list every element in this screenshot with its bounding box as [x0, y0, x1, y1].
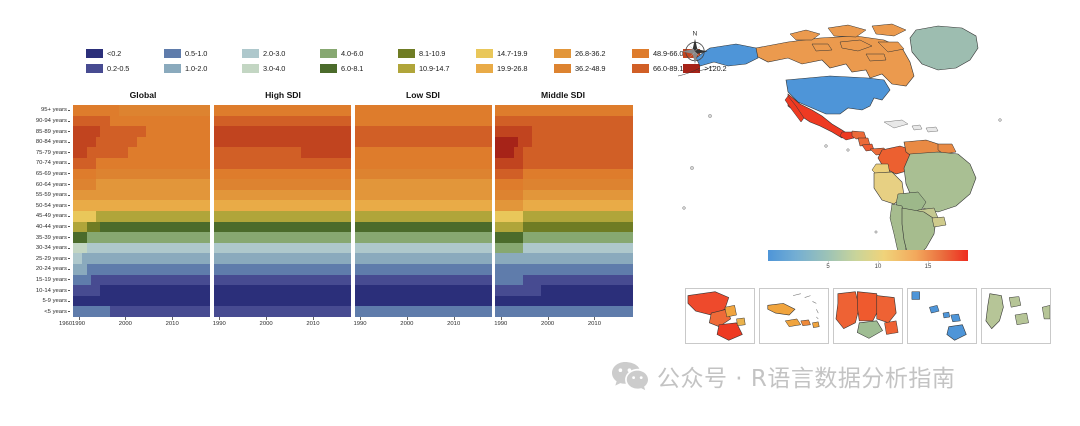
inset-panel-caribbean — [759, 288, 829, 344]
heatmap-cell — [628, 296, 633, 307]
heatmap-row — [214, 147, 352, 158]
facet-middle-sdi — [495, 105, 633, 317]
heatmap-cell — [206, 169, 211, 180]
heatmap-cell — [206, 264, 211, 275]
legend-label: 1.0-2.0 — [185, 64, 207, 73]
legend-swatch — [242, 49, 259, 58]
legend-item-11: 19.9-26.8 — [476, 61, 554, 76]
heatmap-row — [355, 147, 493, 158]
year-tick-label: 2000 — [400, 321, 413, 327]
legend-item-3: 1.0-2.0 — [164, 61, 242, 76]
heatmap-row — [73, 190, 211, 201]
colorbar-tick-label: 10 — [875, 264, 882, 270]
map-colorbar: 51015 — [768, 250, 978, 280]
heatmap-row — [214, 296, 352, 307]
year-tick-label: 1990 — [353, 321, 366, 327]
heatmap-row — [73, 116, 211, 127]
heatmap-cell — [487, 211, 492, 222]
heatmap-cell — [628, 158, 633, 169]
heatmap-row — [355, 126, 493, 137]
year-tick-mark — [548, 317, 549, 320]
heatmap-cell — [347, 232, 352, 243]
age-tick-1: 5-9 years — [8, 296, 70, 307]
age-tick-11: 55-59 years — [8, 190, 70, 201]
heatmap-cell — [347, 105, 352, 116]
heatmap-cell — [206, 179, 211, 190]
inset-panel-pacific-islands — [907, 288, 977, 344]
country-uruguay — [932, 217, 946, 227]
heatmap-cell — [347, 243, 352, 254]
heatmap-row — [73, 222, 211, 233]
caribbean-islands — [884, 120, 938, 132]
heatmap-row — [214, 190, 352, 201]
heatmap-row — [355, 200, 493, 211]
heatmap-cell — [347, 285, 352, 296]
heatmap-row — [355, 296, 493, 307]
age-tick-17: 85-89 years — [8, 126, 70, 137]
legend-item-8: 8.1-10.9 — [398, 46, 476, 61]
heatmap-row — [73, 126, 211, 137]
heatmap-cell — [487, 232, 492, 243]
wechat-logo-icon — [612, 361, 648, 391]
heatmap-row — [73, 179, 211, 190]
colorbar-tick-label: 15 — [925, 264, 932, 270]
year-tick-origin: 1960 — [59, 321, 72, 327]
heatmap-figure: <0.20.2-0.50.5-1.01.0-2.02.0-3.03.0-4.04… — [0, 0, 660, 426]
heatmap-cell — [206, 147, 211, 158]
heatmap-cell — [347, 158, 352, 169]
age-tick-0: <5 years — [8, 306, 70, 317]
year-tick-label: 1990 — [494, 321, 507, 327]
age-tick-10: 50-54 years — [8, 200, 70, 211]
legend-swatch — [86, 64, 103, 73]
heatmap-cell — [628, 275, 633, 286]
legend-item-0: <0.2 — [86, 46, 164, 61]
heatmap-cell — [628, 264, 633, 275]
legend-label: 6.0-8.1 — [341, 64, 363, 73]
year-tick-mark — [266, 317, 267, 320]
heatmap-row — [355, 243, 493, 254]
legend-item-4: 2.0-3.0 — [242, 46, 320, 61]
age-tick-14: 70-74 years — [8, 158, 70, 169]
heatmap-cell — [628, 126, 633, 137]
inset-panel-west-africa — [833, 288, 903, 344]
legend-label: 3.0-4.0 — [263, 64, 285, 73]
heatmap-cell — [628, 147, 633, 158]
legend-item-1: 0.2-0.5 — [86, 61, 164, 76]
heatmap-cell — [487, 137, 492, 148]
heatmap-cell — [347, 211, 352, 222]
heatmap-row — [73, 158, 211, 169]
heatmap-row — [355, 222, 493, 233]
heatmap-cell — [487, 222, 492, 233]
facet-titles: GlobalHigh SDILow SDIMiddle SDI — [73, 90, 633, 103]
heatmap-cell — [487, 169, 492, 180]
age-tick-19: 95+ years — [8, 105, 70, 116]
legend-item-13: 36.2-48.9 — [554, 61, 632, 76]
heatmap-cell — [347, 200, 352, 211]
heatmap-row — [73, 200, 211, 211]
heatmap-row — [355, 232, 493, 243]
inset-panel-indian-ocean — [981, 288, 1051, 344]
facet-title-middle-sdi: Middle SDI — [493, 90, 633, 103]
year-tick-mark — [407, 317, 408, 320]
heatmap-row — [495, 179, 633, 190]
heatmap-row — [214, 179, 352, 190]
legend-swatch — [554, 64, 571, 73]
age-tick-9: 45-49 years — [8, 211, 70, 222]
heatmap-cell — [487, 147, 492, 158]
age-tick-18: 90-94 years — [8, 116, 70, 127]
heatmap-row — [355, 137, 493, 148]
heatmap-cell — [347, 190, 352, 201]
heatmap-row — [495, 126, 633, 137]
watermark-text: 公众号 · R语言数据分析指南 — [657, 359, 955, 393]
year-tick-mark — [454, 317, 455, 320]
heatmap-row — [495, 211, 633, 222]
heatmap-row — [214, 306, 352, 317]
year-axis-low-sdi: 199020002010 — [355, 317, 493, 333]
heatmap-cell — [487, 105, 492, 116]
heatmap-cell — [347, 116, 352, 127]
legend-label: 10.9-14.7 — [419, 64, 449, 73]
heatmap-row — [73, 275, 211, 286]
age-tick-15: 75-79 years — [8, 148, 70, 159]
heatmap-cell — [206, 190, 211, 201]
heatmap-cell — [628, 137, 633, 148]
year-tick-mark — [219, 317, 220, 320]
legend-swatch — [554, 49, 571, 58]
age-tick-8: 40-44 years — [8, 222, 70, 233]
heatmap-cell — [206, 243, 211, 254]
legend-item-10: 14.7-19.9 — [476, 46, 554, 61]
legend-swatch — [86, 49, 103, 58]
inset-panel-central-america — [685, 288, 755, 344]
americas-map — [670, 18, 1070, 268]
heatmap-row — [73, 264, 211, 275]
heatmap-cell — [347, 264, 352, 275]
heatmap-row — [214, 285, 352, 296]
age-tick-5: 25-29 years — [8, 253, 70, 264]
heatmap-row — [73, 296, 211, 307]
heatmap-cell — [347, 147, 352, 158]
legend-swatch — [398, 64, 415, 73]
legend-item-7: 6.0-8.1 — [320, 61, 398, 76]
heatmap-row — [214, 243, 352, 254]
heatmap-row — [495, 296, 633, 307]
year-tick-label: 2010 — [588, 321, 601, 327]
legend-item-9: 10.9-14.7 — [398, 61, 476, 76]
legend-item-12: 26.8-36.2 — [554, 46, 632, 61]
heatmap-row — [214, 200, 352, 211]
heatmap-cell — [347, 306, 352, 317]
legend-swatch — [164, 49, 181, 58]
age-tick-16: 80-84 years — [8, 137, 70, 148]
heatmap-cell — [206, 211, 211, 222]
heatmap-row — [73, 306, 211, 317]
heatmap-row — [214, 137, 352, 148]
year-tick-mark — [594, 317, 595, 320]
facet-high-sdi — [214, 105, 352, 317]
heatmap-row — [214, 253, 352, 264]
heatmap-cell — [206, 116, 211, 127]
heatmap-cell — [206, 296, 211, 307]
legend-swatch — [476, 49, 493, 58]
legend-label: 4.0-6.0 — [341, 49, 363, 58]
heatmap-row — [495, 243, 633, 254]
heatmap-cell — [487, 243, 492, 254]
heatmap-cell — [487, 264, 492, 275]
heatmap-row — [355, 116, 493, 127]
heatmap-row — [214, 275, 352, 286]
heatmap-row — [495, 253, 633, 264]
legend-swatch — [320, 49, 337, 58]
discrete-rate-legend: <0.20.2-0.50.5-1.01.0-2.02.0-3.03.0-4.04… — [86, 46, 632, 78]
heatmap-row — [355, 179, 493, 190]
year-tick-mark — [313, 317, 314, 320]
svg-text:N: N — [693, 31, 698, 38]
age-tick-7: 35-39 years — [8, 232, 70, 243]
year-tick-label: 2010 — [166, 321, 179, 327]
heatmap-cell — [487, 158, 492, 169]
figure-root: <0.20.2-0.50.5-1.01.0-2.02.0-3.03.0-4.04… — [0, 0, 1080, 426]
heatmap-row — [495, 232, 633, 243]
heatmap-cell — [347, 137, 352, 148]
heatmap-row — [214, 211, 352, 222]
heatmap-row — [495, 275, 633, 286]
facet-global — [73, 105, 211, 317]
year-axis-global: 1960199020002010 — [73, 317, 211, 333]
colorbar-gradient — [768, 250, 968, 261]
year-tick-mark — [125, 317, 126, 320]
wechat-watermark: 公众号 · R语言数据分析指南 — [612, 352, 1032, 400]
map-inset-panels — [685, 288, 1057, 344]
heatmap-row — [355, 169, 493, 180]
heatmap-cell — [487, 285, 492, 296]
year-axis: 1960199020002010199020002010199020002010… — [73, 317, 633, 333]
year-tick-label: 1990 — [213, 321, 226, 327]
heatmap-row — [355, 158, 493, 169]
heatmap-row — [73, 169, 211, 180]
legend-item-2: 0.5-1.0 — [164, 46, 242, 61]
heatmap-row — [214, 116, 352, 127]
heatmap-cell — [628, 211, 633, 222]
age-tick-12: 60-64 years — [8, 179, 70, 190]
heatmap-row — [73, 137, 211, 148]
country-greenland — [910, 26, 978, 70]
heatmap-cell — [628, 285, 633, 296]
heatmap-row — [73, 253, 211, 264]
heatmap-plot-area — [73, 105, 633, 317]
heatmap-row — [495, 147, 633, 158]
heatmap-row — [495, 190, 633, 201]
legend-label: <0.2 — [107, 49, 121, 58]
heatmap-cell — [206, 137, 211, 148]
age-tick-3: 15-19 years — [8, 275, 70, 286]
heatmap-cell — [206, 200, 211, 211]
heatmap-cell — [628, 190, 633, 201]
year-tick-label: 2000 — [119, 321, 132, 327]
heatmap-cell — [347, 222, 352, 233]
facet-title-low-sdi: Low SDI — [353, 90, 493, 103]
facet-low-sdi — [355, 105, 493, 317]
legend-swatch — [398, 49, 415, 58]
heatmap-cell — [347, 275, 352, 286]
heatmap-row — [495, 306, 633, 317]
heatmap-row — [495, 200, 633, 211]
heatmap-cell — [487, 306, 492, 317]
heatmap-row — [355, 285, 493, 296]
heatmap-cell — [487, 126, 492, 137]
legend-label: 14.7-19.9 — [497, 49, 527, 58]
heatmap-cell — [628, 200, 633, 211]
heatmap-cell — [487, 253, 492, 264]
year-tick-mark — [79, 317, 80, 320]
year-axis-middle-sdi: 199020002010 — [495, 317, 633, 333]
heatmap-cell — [628, 116, 633, 127]
legend-item-5: 3.0-4.0 — [242, 61, 320, 76]
heatmap-cell — [628, 253, 633, 264]
heatmap-cell — [487, 179, 492, 190]
facet-title-global: Global — [73, 90, 213, 103]
heatmap-row — [214, 158, 352, 169]
legend-swatch — [320, 64, 337, 73]
heatmap-cell — [628, 179, 633, 190]
heatmap-row — [495, 169, 633, 180]
heatmap-cell — [347, 126, 352, 137]
heatmap-row — [73, 105, 211, 116]
heatmap-row — [214, 105, 352, 116]
heatmap-row — [495, 105, 633, 116]
colorbar-tick-label: 5 — [826, 264, 829, 270]
heatmap-row — [214, 264, 352, 275]
heatmap-cell — [487, 275, 492, 286]
legend-label: 0.2-0.5 — [107, 64, 129, 73]
facet-title-high-sdi: High SDI — [213, 90, 353, 103]
heatmap-cell — [206, 126, 211, 137]
legend-label: 26.8-36.2 — [575, 49, 605, 58]
age-tick-6: 30-34 years — [8, 243, 70, 254]
heatmap-cell — [206, 275, 211, 286]
heatmap-row — [73, 211, 211, 222]
heatmap-cell — [487, 200, 492, 211]
legend-label: 36.2-48.9 — [575, 64, 605, 73]
heatmap-row — [495, 158, 633, 169]
heatmap-row — [355, 275, 493, 286]
heatmap-cell — [628, 243, 633, 254]
year-tick-mark — [501, 317, 502, 320]
heatmap-cell — [487, 296, 492, 307]
heatmap-cell — [487, 116, 492, 127]
legend-label: 8.1-10.9 — [419, 49, 445, 58]
year-tick-label: 2010 — [306, 321, 319, 327]
legend-label: 2.0-3.0 — [263, 49, 285, 58]
heatmap-cell — [628, 232, 633, 243]
heatmap-row — [355, 190, 493, 201]
heatmap-row — [214, 222, 352, 233]
heatmap-row — [214, 169, 352, 180]
legend-swatch — [632, 64, 649, 73]
heatmap-cell — [206, 232, 211, 243]
year-tick-label: 1990 — [72, 321, 85, 327]
heatmap-cell — [206, 285, 211, 296]
legend-swatch — [242, 64, 259, 73]
year-tick-label: 2000 — [260, 321, 273, 327]
heatmap-row — [495, 285, 633, 296]
age-tick-4: 20-24 years — [8, 264, 70, 275]
heatmap-cell — [206, 253, 211, 264]
legend-swatch — [632, 49, 649, 58]
year-tick-label: 2000 — [541, 321, 554, 327]
heatmap-cell — [347, 169, 352, 180]
heatmap-row — [73, 285, 211, 296]
heatmap-row — [214, 232, 352, 243]
heatmap-row — [495, 264, 633, 275]
legend-label: 0.5-1.0 — [185, 49, 207, 58]
heatmap-row — [355, 253, 493, 264]
heatmap-cell — [206, 158, 211, 169]
year-tick-mark — [360, 317, 361, 320]
year-axis-high-sdi: 199020002010 — [214, 317, 352, 333]
heatmap-row — [355, 264, 493, 275]
heatmap-cell — [628, 105, 633, 116]
compass-rose-icon: N — [678, 28, 712, 70]
heatmap-row — [73, 147, 211, 158]
heatmap-cell — [347, 253, 352, 264]
heatmap-cell — [206, 105, 211, 116]
legend-item-6: 4.0-6.0 — [320, 46, 398, 61]
year-tick-mark — [172, 317, 173, 320]
legend-label: 19.9-26.8 — [497, 64, 527, 73]
heatmap-row — [355, 211, 493, 222]
heatmap-cell — [347, 179, 352, 190]
heatmap-cell — [206, 306, 211, 317]
heatmap-row — [495, 116, 633, 127]
heatmap-cell — [487, 190, 492, 201]
age-tick-2: 10-14 years — [8, 285, 70, 296]
year-tick-label: 2010 — [447, 321, 460, 327]
heatmap-row — [495, 222, 633, 233]
heatmap-cell — [628, 222, 633, 233]
heatmap-row — [73, 243, 211, 254]
heatmap-row — [355, 306, 493, 317]
heatmap-cell — [347, 296, 352, 307]
legend-swatch — [164, 64, 181, 73]
heatmap-cell — [628, 306, 633, 317]
heatmap-row — [73, 232, 211, 243]
age-group-axis: <5 years5-9 years10-14 years15-19 years2… — [8, 105, 70, 317]
legend-swatch — [476, 64, 493, 73]
heatmap-row — [355, 105, 493, 116]
heatmap-row — [214, 126, 352, 137]
heatmap-cell — [628, 169, 633, 180]
heatmap-row — [495, 137, 633, 148]
age-tick-13: 65-69 years — [8, 169, 70, 180]
heatmap-cell — [206, 222, 211, 233]
